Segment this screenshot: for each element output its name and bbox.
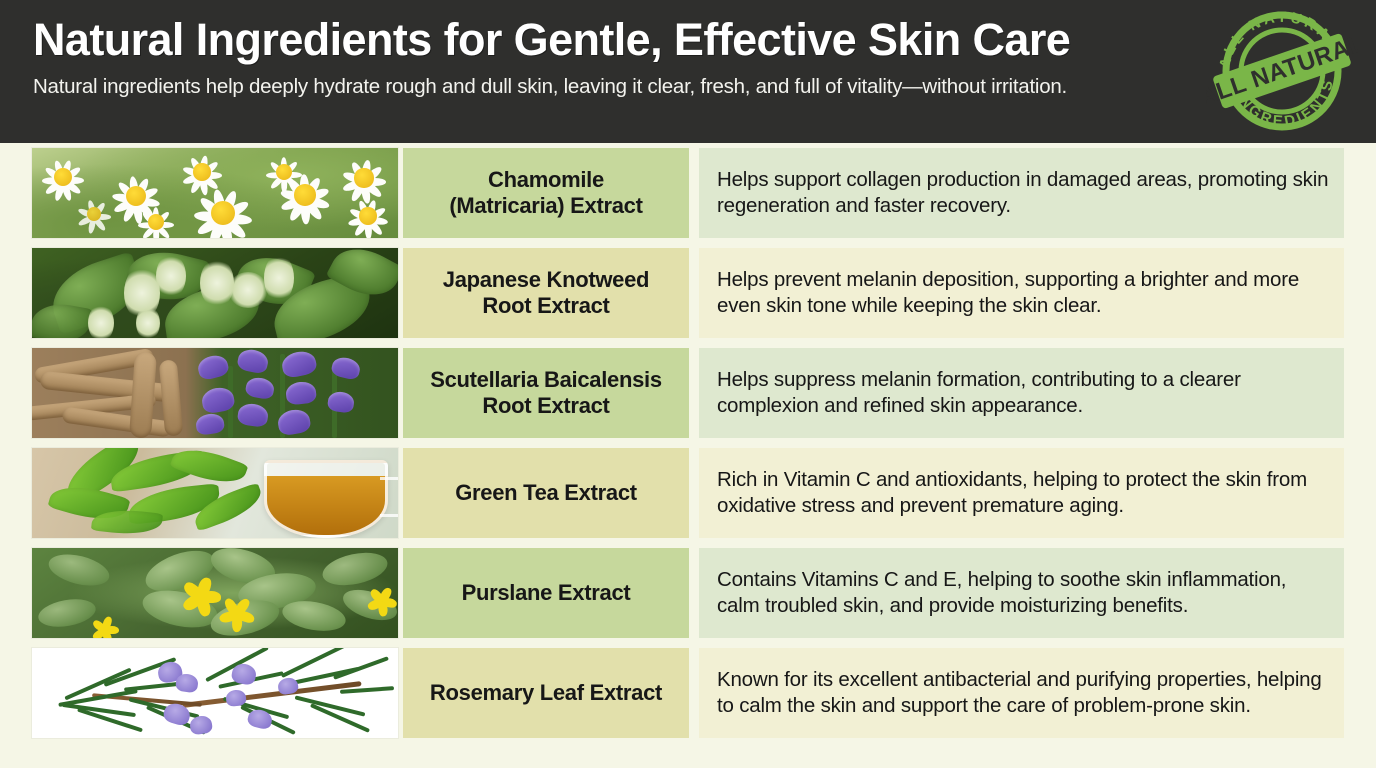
ingredient-name-line-2: Root Extract xyxy=(430,393,662,419)
ingredient-name-line-1: Green Tea Extract xyxy=(455,480,637,506)
ingredient-image-rosemary xyxy=(32,648,398,738)
ingredients-table: Chamomile (Matricaria) Extract Helps sup… xyxy=(0,143,1376,743)
page-header: Natural Ingredients for Gentle, Effectiv… xyxy=(0,0,1376,143)
page-title: Natural Ingredients for Gentle, Effectiv… xyxy=(33,16,1346,63)
ingredient-name: Purslane Extract xyxy=(403,548,689,638)
ingredient-name-line-1: Chamomile xyxy=(449,167,642,193)
ingredient-description: Rich in Vitamin C and antioxidants, help… xyxy=(699,448,1344,538)
ingredient-name: Green Tea Extract xyxy=(403,448,689,538)
all-natural-stamp-icon: ALL NATURAL INGREDIENTS ALL NATURAL xyxy=(1206,6,1358,136)
ingredient-image-chamomile xyxy=(32,148,398,238)
ingredient-description: Helps suppress melanin formation, contri… xyxy=(699,348,1344,438)
ingredient-description: Known for its excellent antibacterial an… xyxy=(699,648,1344,738)
page-subtitle: Natural ingredients help deeply hydrate … xyxy=(33,75,1346,99)
ingredient-description: Contains Vitamins C and E, helping to so… xyxy=(699,548,1344,638)
ingredient-image-scutellaria-baicalensis xyxy=(32,348,398,438)
ingredient-name-line-1: Scutellaria Baicalensis xyxy=(430,367,662,393)
table-row: Purslane Extract Contains Vitamins C and… xyxy=(0,543,1376,643)
ingredient-name-line-1: Rosemary Leaf Extract xyxy=(430,680,662,706)
table-row: Rosemary Leaf Extract Known for its exce… xyxy=(0,643,1376,743)
ingredient-name-line-1: Japanese Knotweed xyxy=(443,267,649,293)
ingredient-name: Rosemary Leaf Extract xyxy=(403,648,689,738)
table-row: Chamomile (Matricaria) Extract Helps sup… xyxy=(0,143,1376,243)
ingredient-image-japanese-knotweed xyxy=(32,248,398,338)
ingredient-name: Japanese Knotweed Root Extract xyxy=(403,248,689,338)
ingredient-name-line-2: Root Extract xyxy=(443,293,649,319)
table-row: Japanese Knotweed Root Extract Helps pre… xyxy=(0,243,1376,343)
table-row: Green Tea Extract Rich in Vitamin C and … xyxy=(0,443,1376,543)
ingredient-name-line-2: (Matricaria) Extract xyxy=(449,193,642,219)
ingredient-description: Helps prevent melanin deposition, suppor… xyxy=(699,248,1344,338)
ingredient-name-line-1: Purslane Extract xyxy=(462,580,631,606)
ingredient-name: Chamomile (Matricaria) Extract xyxy=(403,148,689,238)
ingredient-image-green-tea xyxy=(32,448,398,538)
ingredient-description: Helps support collagen production in dam… xyxy=(699,148,1344,238)
infographic-page: Natural Ingredients for Gentle, Effectiv… xyxy=(0,0,1376,768)
ingredient-image-purslane xyxy=(32,548,398,638)
ingredient-name: Scutellaria Baicalensis Root Extract xyxy=(403,348,689,438)
table-row: Scutellaria Baicalensis Root Extract Hel… xyxy=(0,343,1376,443)
